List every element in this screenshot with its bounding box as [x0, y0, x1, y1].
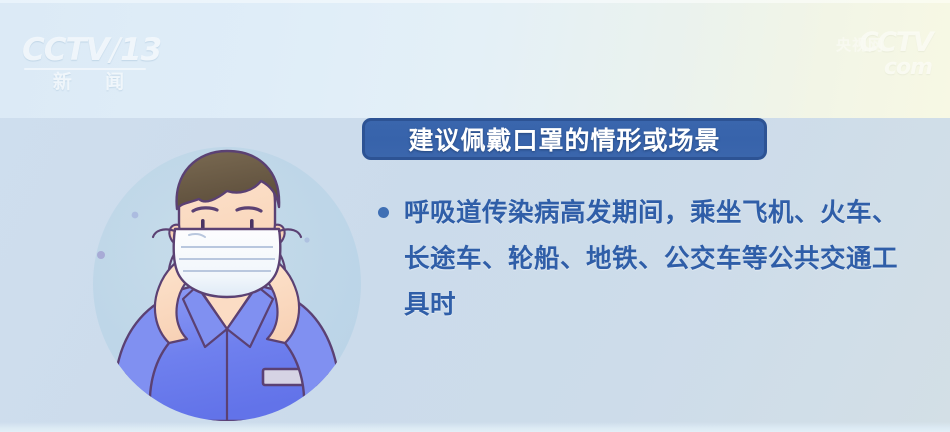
cctv-logo-text: CCTV	[22, 32, 109, 68]
illustration-circle-background	[93, 147, 361, 421]
headline-text: 建议佩戴口罩的情形或场景	[408, 121, 720, 157]
mask-person-drawing	[93, 147, 361, 421]
watermark-chinese-text: 央视网	[836, 34, 884, 55]
illustration-mask-person	[93, 147, 361, 421]
cctv-logo-slash: /	[109, 32, 120, 68]
watermark-domain: com	[752, 56, 932, 79]
broadcast-screenshot: CCTV/13 新 闻 央视网 CCTV com	[0, 0, 950, 432]
headline-banner: 建议佩戴口罩的情形或场景	[362, 118, 767, 160]
cctv13-channel-logo: CCTV/13 新 闻	[22, 33, 157, 95]
cctv-logo-subtitle: 新 闻	[22, 72, 157, 94]
bullet-item-text: 呼吸道传染病高发期间，乘坐飞机、火车、长途车、轮船、地铁、公交车等公共交通工具时	[404, 190, 908, 328]
cctv-logo-wordmark: CCTV/13	[22, 33, 157, 67]
list-item: 呼吸道传染病高发期间，乘坐飞机、火车、长途车、轮船、地铁、公交车等公共交通工具时	[378, 190, 908, 328]
cctv-logo-rule	[24, 68, 146, 70]
cctv-com-watermark: 央视网 CCTV com	[752, 30, 932, 82]
bullet-list: 呼吸道传染病高发期间，乘坐飞机、火车、长途车、轮船、地铁、公交车等公共交通工具时	[378, 190, 908, 328]
bullet-dot-icon	[378, 207, 389, 218]
cctv-logo-number: 13	[120, 32, 161, 68]
